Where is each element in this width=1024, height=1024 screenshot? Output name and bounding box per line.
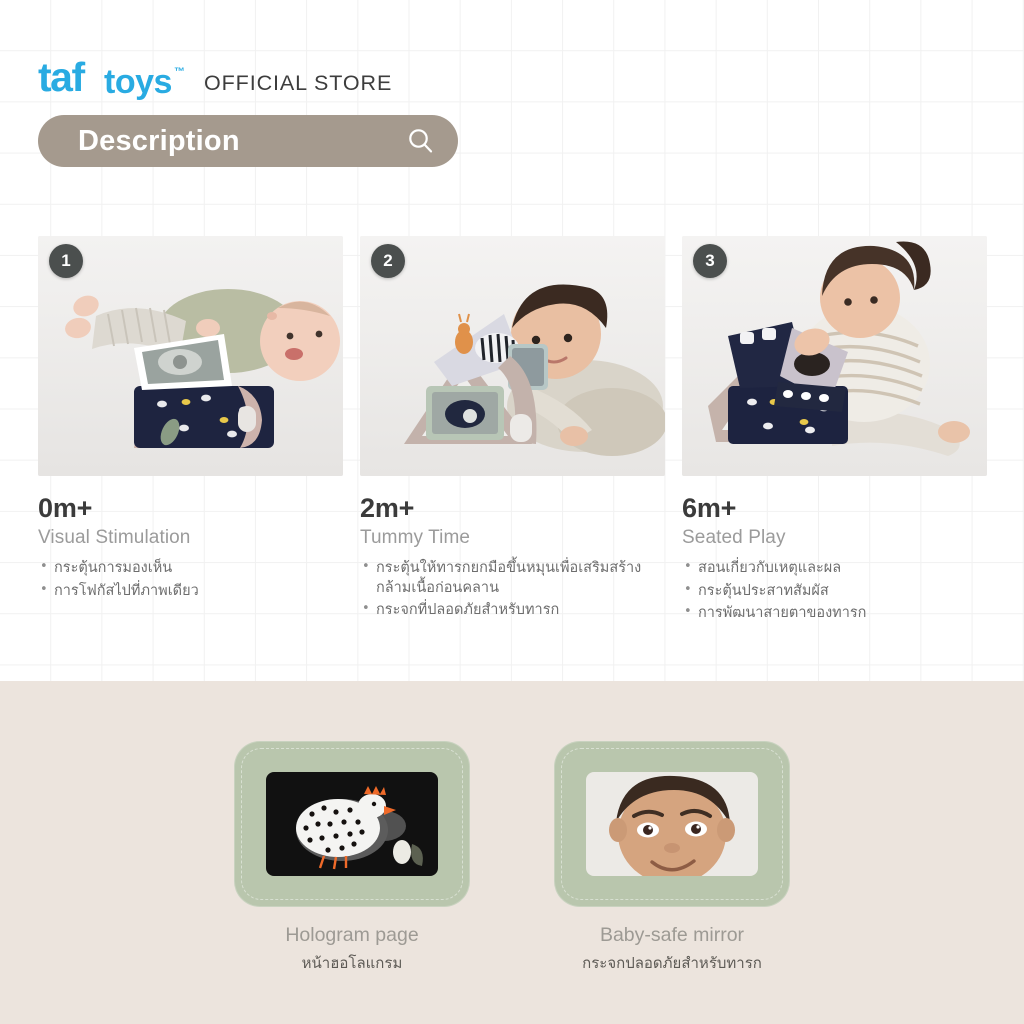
age-label-3: 6m+ xyxy=(682,493,987,524)
list-item: กระตุ้นประสาทสัมผัส xyxy=(682,582,987,602)
stage-label-2: Tummy Time xyxy=(360,527,665,549)
hologram-frame[interactable] xyxy=(234,741,470,907)
mirror-caption-th: กระจกปลอดภัยสำหรับทารก xyxy=(554,951,790,975)
feature-column-3: 3 xyxy=(682,236,987,627)
page-title: Description xyxy=(78,125,240,158)
hologram-caption-en: Hologram page xyxy=(234,924,470,947)
photo-2-illustration xyxy=(360,236,665,476)
svg-text:toys: toys xyxy=(104,63,172,101)
feature-columns: 1 xyxy=(38,236,988,627)
detail-cards: Hologram page หน้าฮอโลแกรม xyxy=(0,741,1024,975)
mirror-frame[interactable] xyxy=(554,741,790,907)
taf-toys-logo[interactable]: taf toys ™ xyxy=(38,57,198,101)
svg-text:™: ™ xyxy=(174,66,185,78)
hologram-page-image xyxy=(266,772,438,876)
step-badge-1: 1 xyxy=(49,244,83,278)
list-item: กระจกที่ปลอดภัยสำหรับทารก xyxy=(360,601,665,621)
stage-label-1: Visual Stimulation xyxy=(38,527,343,549)
list-item: กระตุ้นการมองเห็น xyxy=(38,559,343,579)
list-item: การพัฒนาสายตาของทารก xyxy=(682,604,987,624)
feature-points-1: กระตุ้นการมองเห็น การโฟกัสไปที่ภาพเดียว xyxy=(38,559,343,601)
detail-card-mirror: Baby-safe mirror กระจกปลอดภัยสำหรับทารก xyxy=(554,741,790,975)
store-header: taf toys ™ OFFICIAL STORE xyxy=(38,55,988,101)
age-label-1: 0m+ xyxy=(38,493,343,524)
list-item: กระตุ้นให้ทารกยกมือขึ้นหมุนเพื่อเสริมสร้… xyxy=(360,559,665,598)
hologram-caption-th: หน้าฮอโลแกรม xyxy=(234,951,470,975)
feature-column-2: 2 xyxy=(360,236,665,627)
feature-points-3: สอนเกี่ยวกับเหตุและผล กระตุ้นประสาทสัมผั… xyxy=(682,559,987,624)
detail-card-hologram: Hologram page หน้าฮอโลแกรม xyxy=(234,741,470,975)
mirror-caption-en: Baby-safe mirror xyxy=(554,924,790,947)
feature-photo-2[interactable]: 2 xyxy=(360,236,665,476)
svg-text:taf: taf xyxy=(38,57,85,100)
feature-column-1: 1 xyxy=(38,236,343,627)
feature-photo-1[interactable]: 1 xyxy=(38,236,343,476)
step-badge-2: 2 xyxy=(371,244,405,278)
product-description-page: taf toys ™ OFFICIAL STORE Description xyxy=(0,0,1024,1024)
description-section-bar[interactable]: Description xyxy=(38,115,458,167)
list-item: สอนเกี่ยวกับเหตุและผล xyxy=(682,559,987,579)
feature-points-2: กระตุ้นให้ทารกยกมือขึ้นหมุนเพื่อเสริมสร้… xyxy=(360,559,665,621)
mirror-baby-image xyxy=(586,772,758,876)
official-store-label: OFFICIAL STORE xyxy=(204,71,392,101)
age-label-2: 2m+ xyxy=(360,493,665,524)
stage-label-3: Seated Play xyxy=(682,527,987,549)
step-badge-3: 3 xyxy=(693,244,727,278)
brand-row: taf toys ™ OFFICIAL STORE xyxy=(38,55,988,101)
search-icon[interactable] xyxy=(406,126,436,156)
list-item: การโฟกัสไปที่ภาพเดียว xyxy=(38,582,343,602)
photo-3-illustration xyxy=(682,236,987,476)
feature-photo-3[interactable]: 3 xyxy=(682,236,987,476)
photo-1-illustration xyxy=(38,236,343,476)
